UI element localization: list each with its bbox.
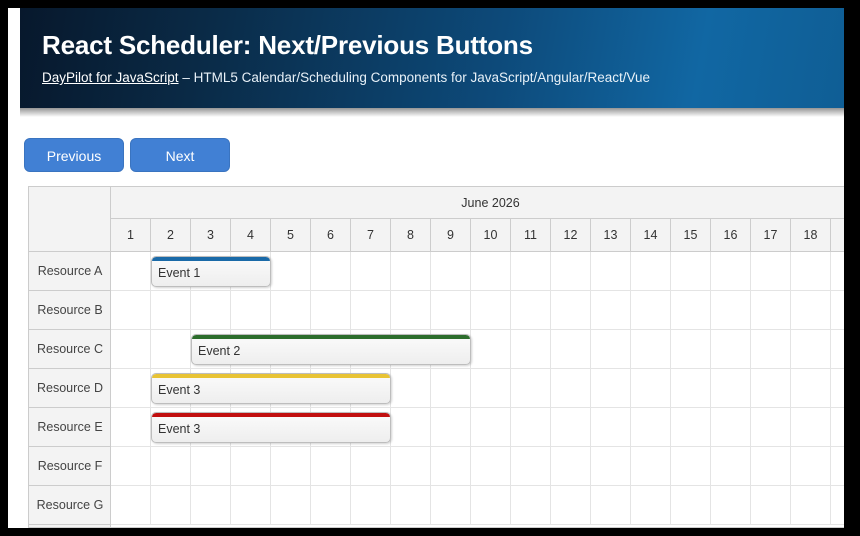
grid-cell[interactable] <box>551 486 591 525</box>
grid-cell[interactable] <box>431 447 471 486</box>
day-header-cell: 6 <box>311 219 351 251</box>
grid-cell[interactable] <box>791 408 831 447</box>
grid-cell[interactable] <box>511 486 551 525</box>
grid-cell[interactable] <box>311 486 351 525</box>
scheduler-grid[interactable]: Event 1Event 2Event 3Event 3 <box>111 252 844 528</box>
scheduler-day-header: 12345678910111213141516171819 <box>111 219 844 252</box>
day-header-cell: 8 <box>391 219 431 251</box>
grid-cell[interactable] <box>711 252 751 291</box>
banner-subtitle-rest: – HTML5 Calendar/Scheduling Components f… <box>179 70 651 85</box>
grid-cell[interactable] <box>431 408 471 447</box>
grid-cell[interactable] <box>431 486 471 525</box>
grid-cell[interactable] <box>711 447 751 486</box>
resource-cell[interactable]: Resource E <box>29 408 111 447</box>
grid-cell[interactable] <box>831 330 844 369</box>
resource-column: Resource AResource BResource CResource D… <box>28 252 111 528</box>
grid-cell[interactable] <box>391 291 431 330</box>
scheduler-event[interactable]: Event 2 <box>191 334 471 365</box>
grid-cell[interactable] <box>591 252 631 291</box>
toolbar: PreviousNext <box>24 138 230 172</box>
grid-cell[interactable] <box>231 447 271 486</box>
day-header-cell: 18 <box>791 219 831 251</box>
grid-cell[interactable] <box>351 252 391 291</box>
grid-cell[interactable] <box>831 408 844 447</box>
grid-cell[interactable] <box>471 369 511 408</box>
grid-cell[interactable] <box>591 369 631 408</box>
grid-cell[interactable] <box>391 252 431 291</box>
event-color-bar <box>192 335 470 339</box>
scheduler-month-header: June 2026 <box>111 186 844 219</box>
day-header-cell: 11 <box>511 219 551 251</box>
grid-cell[interactable] <box>791 252 831 291</box>
grid-cell[interactable] <box>431 252 471 291</box>
day-header-cell: 16 <box>711 219 751 251</box>
grid-cell[interactable] <box>151 447 191 486</box>
grid-cell[interactable] <box>231 291 271 330</box>
event-color-bar <box>152 374 390 378</box>
grid-cell[interactable] <box>831 252 844 291</box>
resource-cell[interactable]: Resource F <box>29 447 111 486</box>
grid-cell[interactable] <box>191 447 231 486</box>
grid-cell[interactable] <box>391 369 431 408</box>
grid-cell[interactable] <box>751 252 791 291</box>
grid-cell[interactable] <box>551 252 591 291</box>
grid-cell[interactable] <box>671 330 711 369</box>
site-banner: React Scheduler: Next/Previous Buttons D… <box>20 8 844 108</box>
event-label: Event 3 <box>158 379 386 401</box>
grid-cell[interactable] <box>591 486 631 525</box>
grid-cell[interactable] <box>751 291 791 330</box>
day-header-cell: 5 <box>271 219 311 251</box>
grid-cell[interactable] <box>271 291 311 330</box>
grid-cell[interactable] <box>511 447 551 486</box>
grid-cell[interactable] <box>111 291 151 330</box>
resource-cell[interactable]: Resource G <box>29 486 111 525</box>
grid-bottom-border <box>28 527 844 528</box>
grid-cell[interactable] <box>351 291 391 330</box>
scheduler-corner <box>28 186 111 252</box>
grid-cell[interactable] <box>431 369 471 408</box>
resource-cell[interactable]: Resource D <box>29 369 111 408</box>
grid-cell[interactable] <box>591 447 631 486</box>
grid-cell[interactable] <box>631 408 671 447</box>
grid-cell[interactable] <box>511 330 551 369</box>
grid-cell[interactable] <box>511 291 551 330</box>
resource-cell[interactable]: Resource B <box>29 291 111 330</box>
day-header-cell: 7 <box>351 219 391 251</box>
scheduler: June 2026 12345678910111213141516171819 … <box>28 186 844 528</box>
grid-cell[interactable] <box>111 408 151 447</box>
day-header-cell: 17 <box>751 219 791 251</box>
grid-cell[interactable] <box>791 486 831 525</box>
grid-cell[interactable] <box>751 369 791 408</box>
banner-subtitle: DayPilot for JavaScript – HTML5 Calendar… <box>42 70 844 86</box>
grid-cell[interactable] <box>671 252 711 291</box>
grid-cell[interactable] <box>831 369 844 408</box>
grid-cell[interactable] <box>711 291 751 330</box>
daypilot-link[interactable]: DayPilot for JavaScript <box>42 70 179 85</box>
grid-cell[interactable] <box>311 252 351 291</box>
grid-cell[interactable] <box>231 486 271 525</box>
grid-cell[interactable] <box>471 486 511 525</box>
screenshot-frame: React Scheduler: Next/Previous Buttons D… <box>0 0 860 536</box>
grid-cell[interactable] <box>471 291 511 330</box>
grid-cell[interactable] <box>791 330 831 369</box>
grid-cell[interactable] <box>151 330 191 369</box>
grid-cell[interactable] <box>351 486 391 525</box>
grid-cell[interactable] <box>551 408 591 447</box>
grid-cell[interactable] <box>631 486 671 525</box>
grid-cell[interactable] <box>551 369 591 408</box>
grid-cell[interactable] <box>831 291 844 330</box>
grid-cell[interactable] <box>391 486 431 525</box>
grid-cell[interactable] <box>791 447 831 486</box>
grid-cell[interactable] <box>831 447 844 486</box>
grid-cell[interactable] <box>751 486 791 525</box>
scheduler-event[interactable]: Event 1 <box>151 256 271 287</box>
grid-cell[interactable] <box>551 447 591 486</box>
event-label: Event 1 <box>158 262 266 284</box>
grid-cell[interactable] <box>671 369 711 408</box>
grid-cell[interactable] <box>471 408 511 447</box>
grid-cell[interactable] <box>191 486 231 525</box>
scheduler-event[interactable]: Event 3 <box>151 373 391 404</box>
grid-cell[interactable] <box>471 447 511 486</box>
day-header-cell: 1 <box>111 219 151 251</box>
grid-cell[interactable] <box>511 408 551 447</box>
grid-cell[interactable] <box>111 330 151 369</box>
grid-cell[interactable] <box>151 291 191 330</box>
grid-cell[interactable] <box>391 447 431 486</box>
resource-cell[interactable]: Resource A <box>29 252 111 291</box>
grid-cell[interactable] <box>671 486 711 525</box>
day-header-cell: 15 <box>671 219 711 251</box>
grid-cell[interactable] <box>711 486 751 525</box>
event-color-bar <box>152 257 270 261</box>
grid-cell[interactable] <box>271 252 311 291</box>
day-header-cell: 2 <box>151 219 191 251</box>
grid-cell[interactable] <box>631 252 671 291</box>
grid-cell[interactable] <box>831 486 844 525</box>
grid-cell[interactable] <box>471 330 511 369</box>
grid-cell[interactable] <box>711 330 751 369</box>
grid-cell[interactable] <box>631 369 671 408</box>
grid-cell[interactable] <box>631 291 671 330</box>
page-title: React Scheduler: Next/Previous Buttons <box>42 30 844 60</box>
grid-cell[interactable] <box>711 369 751 408</box>
grid-cell[interactable] <box>471 252 511 291</box>
event-color-bar <box>152 413 390 417</box>
grid-cell[interactable] <box>591 330 631 369</box>
grid-cell[interactable] <box>191 291 231 330</box>
grid-cell[interactable] <box>271 447 311 486</box>
grid-cell[interactable] <box>431 291 471 330</box>
day-header-cell: 9 <box>431 219 471 251</box>
grid-cell[interactable] <box>111 252 151 291</box>
grid-cell[interactable] <box>311 447 351 486</box>
grid-cell[interactable] <box>751 447 791 486</box>
resource-cell[interactable]: Resource C <box>29 330 111 369</box>
day-header-cell: 10 <box>471 219 511 251</box>
grid-cell[interactable] <box>791 291 831 330</box>
grid-cell[interactable] <box>631 447 671 486</box>
grid-cell[interactable] <box>111 486 151 525</box>
grid-cell[interactable] <box>151 486 191 525</box>
event-label: Event 2 <box>198 340 466 362</box>
grid-cell[interactable] <box>671 408 711 447</box>
grid-cell[interactable] <box>271 486 311 525</box>
grid-cell[interactable] <box>671 291 711 330</box>
day-header-cell: 3 <box>191 219 231 251</box>
grid-cell[interactable] <box>111 447 151 486</box>
grid-cell[interactable] <box>711 408 751 447</box>
banner-shadow <box>20 108 844 117</box>
grid-cell[interactable] <box>751 408 791 447</box>
event-label: Event 3 <box>158 418 386 440</box>
grid-cell[interactable] <box>591 408 631 447</box>
grid-cell[interactable] <box>751 330 791 369</box>
previous-button[interactable]: Previous <box>24 138 124 172</box>
day-header-cell: 12 <box>551 219 591 251</box>
day-header-cell: 19 <box>831 219 844 251</box>
grid-cell[interactable] <box>391 408 431 447</box>
grid-cell[interactable] <box>511 369 551 408</box>
grid-cell[interactable] <box>791 369 831 408</box>
grid-cell[interactable] <box>551 330 591 369</box>
month-header-cell: June 2026 <box>111 187 844 219</box>
grid-cell[interactable] <box>591 291 631 330</box>
grid-cell[interactable] <box>311 291 351 330</box>
grid-cell[interactable] <box>551 291 591 330</box>
grid-cell[interactable] <box>511 252 551 291</box>
day-header-cell: 14 <box>631 219 671 251</box>
scheduler-event[interactable]: Event 3 <box>151 412 391 443</box>
grid-cell[interactable] <box>671 447 711 486</box>
grid-cell[interactable] <box>631 330 671 369</box>
day-header-cell: 13 <box>591 219 631 251</box>
grid-cell[interactable] <box>111 369 151 408</box>
next-button[interactable]: Next <box>130 138 230 172</box>
day-header-cell: 4 <box>231 219 271 251</box>
page-body: React Scheduler: Next/Previous Buttons D… <box>8 8 844 528</box>
grid-cell[interactable] <box>351 447 391 486</box>
